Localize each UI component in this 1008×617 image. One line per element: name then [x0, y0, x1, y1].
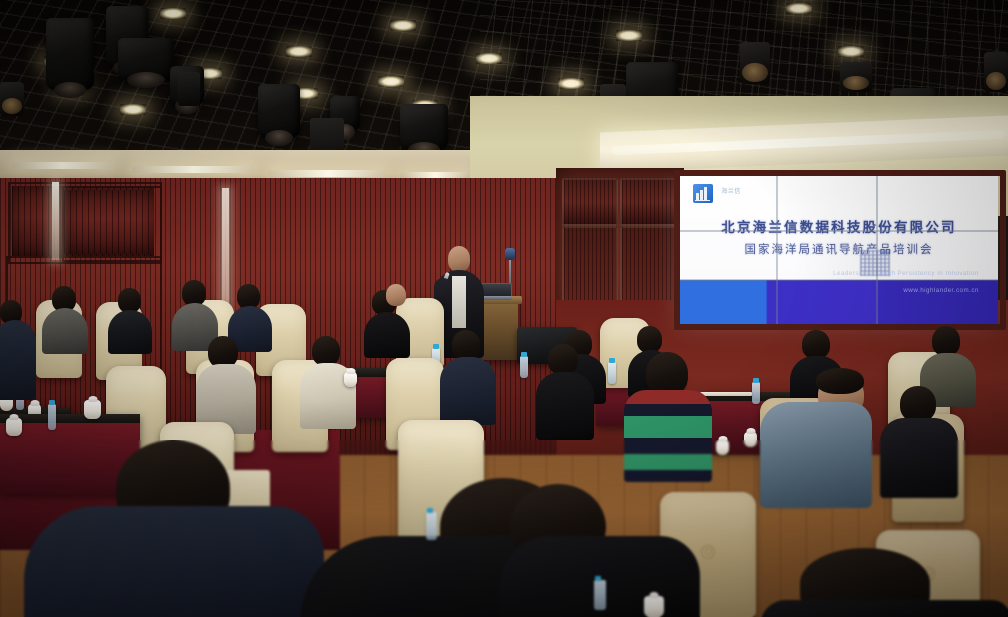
audience-member	[42, 286, 88, 352]
slide-blue-band	[680, 280, 998, 324]
head	[900, 386, 936, 422]
teacup	[716, 440, 729, 455]
torso	[24, 506, 324, 617]
downlight	[558, 78, 584, 89]
wood-frame-cell	[620, 178, 676, 226]
water-bottle	[426, 512, 437, 540]
slat-panel	[64, 190, 154, 254]
downlight	[838, 46, 864, 57]
polo-stripe-green	[624, 416, 712, 438]
downlight	[476, 53, 502, 64]
video-wall-seam	[680, 230, 998, 232]
moving-head-light	[400, 104, 448, 150]
head	[932, 326, 960, 356]
torso	[108, 310, 152, 354]
moving-head-light	[46, 18, 94, 90]
water-bottle	[752, 382, 760, 404]
moving-head-light	[258, 84, 300, 138]
par-can-light	[984, 52, 1008, 92]
audience-member	[380, 284, 420, 344]
highlander-logo-icon	[693, 184, 713, 203]
hair	[816, 368, 864, 394]
logo-wordmark: 海兰信	[721, 186, 741, 195]
head	[548, 344, 578, 375]
water-bottle	[520, 356, 528, 378]
teacup	[644, 596, 664, 617]
teacup	[344, 372, 357, 387]
head	[312, 336, 340, 366]
video-wall-seam	[776, 176, 778, 324]
wall-accent-light	[52, 182, 59, 260]
video-wall-seam	[680, 279, 998, 281]
slide-title-line-1: 北京海兰信数据科技股份有限公司	[680, 216, 998, 236]
audience-member	[108, 288, 152, 352]
teacup	[6, 418, 22, 436]
presentation-video-wall[interactable]: 海兰信 北京海兰信数据科技股份有限公司 国家海洋局通讯导航产品培训会 Leade…	[680, 176, 998, 324]
denim-jacket-torso	[760, 402, 872, 508]
audience-member	[440, 330, 496, 422]
downlight	[616, 30, 642, 41]
ceiling-speaker	[178, 72, 200, 106]
head	[452, 330, 480, 360]
cove-light	[132, 166, 254, 173]
moving-head-light	[118, 38, 174, 80]
conference-room-photo: 海兰信 北京海兰信数据科技股份有限公司 国家海洋局通讯导航产品培训会 Leade…	[0, 0, 1008, 617]
teacup	[744, 432, 757, 447]
presenter-shirt	[452, 276, 466, 328]
torso	[760, 600, 1008, 617]
downlight	[120, 104, 146, 115]
wood-frame-cell	[562, 178, 618, 226]
foreground-attendee-right	[760, 548, 1008, 617]
audience-member-left-edge	[0, 300, 40, 420]
polo-stripe-navy	[624, 404, 712, 416]
downlight	[786, 3, 812, 14]
teacup	[84, 400, 101, 419]
audience-member	[880, 386, 958, 496]
video-wall-seam	[876, 176, 878, 324]
downlight	[378, 76, 404, 87]
downlight	[160, 8, 186, 19]
torso	[880, 418, 958, 498]
slide-website: www.highlander.com.cn	[903, 287, 979, 294]
head	[802, 330, 830, 359]
slide-tagline: Leadership through Persistency in Innova…	[833, 270, 979, 277]
water-bottle	[48, 404, 56, 430]
downlight	[390, 20, 416, 31]
cove-light	[12, 162, 112, 169]
par-can-light	[840, 62, 872, 92]
water-bottle	[594, 580, 606, 610]
audience-member	[196, 336, 256, 432]
audience-member	[536, 344, 594, 436]
cove-light	[268, 170, 388, 177]
water-bottle	[608, 362, 616, 384]
slide-title-line-2: 国家海洋局通讯导航产品培训会	[680, 241, 998, 257]
head	[386, 284, 406, 306]
torso	[0, 320, 36, 400]
presenter-head	[448, 246, 470, 272]
polo-stripe-red	[624, 390, 712, 404]
head	[637, 326, 662, 353]
downlight	[286, 46, 312, 57]
torso	[42, 308, 88, 354]
torso	[440, 357, 496, 425]
par-can-light	[740, 42, 770, 84]
audience-member-denim-jacket	[760, 368, 872, 508]
par-can-light	[0, 82, 24, 116]
torso	[536, 372, 594, 440]
foreground-attendee-navy-shirt	[24, 440, 324, 617]
